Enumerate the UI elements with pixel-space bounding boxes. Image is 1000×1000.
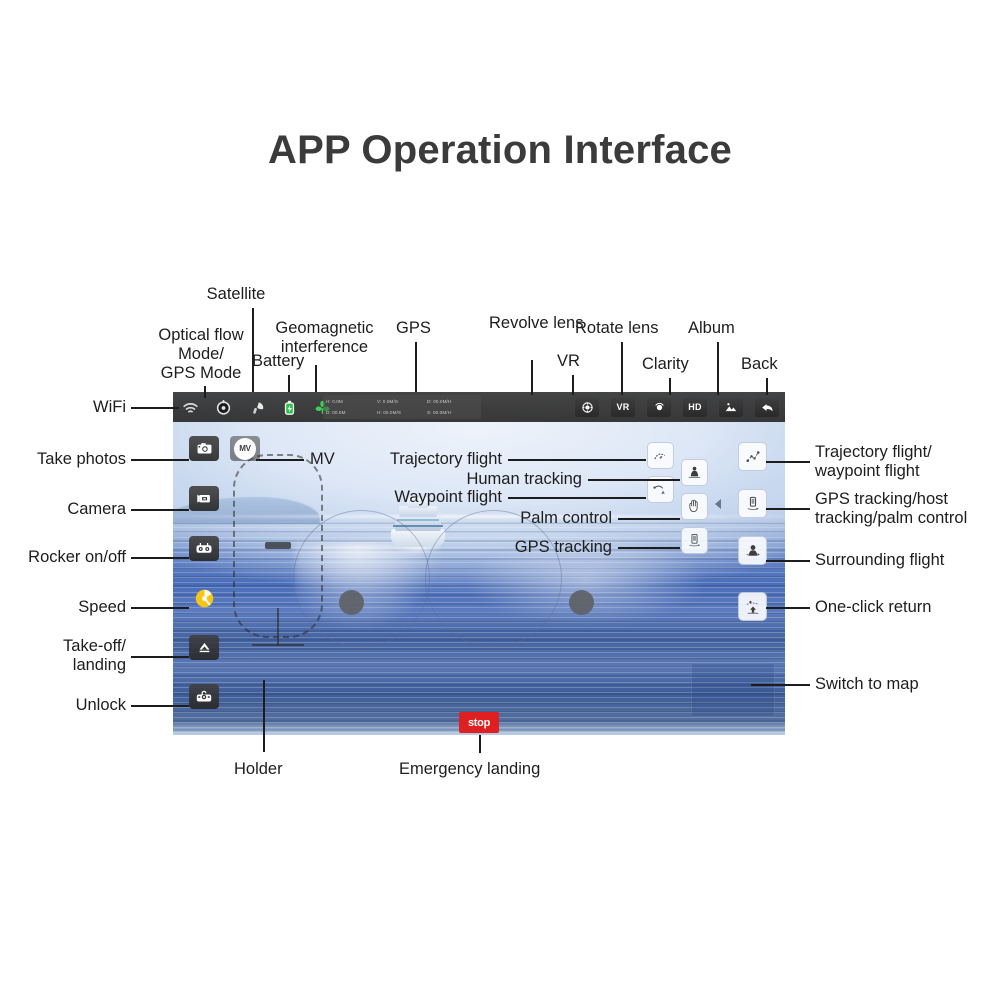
leader-human-tracking [588,479,680,481]
poster-root: APP Operation Interface [0,0,1000,1000]
leader-album [717,342,719,395]
wifi-icon[interactable] [181,398,200,417]
callout-vr: VR [557,352,580,371]
callout-trajectory-flight: Trajectory flight [370,450,502,469]
callout-palm-control: Palm control [468,509,612,528]
callout-one-click-return: One-click return [815,598,931,617]
left-joystick-knob[interactable] [339,590,364,615]
callout-rocker-on-off: Rocker on/off [8,548,126,567]
leader-right-gps-host [766,508,810,510]
callout-holder: Holder [234,760,283,779]
callout-unlock: Unlock [36,696,126,715]
human-tracking-button[interactable] [681,459,708,486]
telemetry-readout: H: 0.0M V: 0.0M/S D: 00.0M/H D: 00.0M H:… [323,395,481,419]
mv-button-label: MV [234,438,256,460]
switch-to-map-thumbnail[interactable] [691,663,775,717]
leader-emergency-landing [479,735,481,753]
album-button[interactable] [719,398,743,417]
page-title: APP Operation Interface [0,128,1000,173]
leader-back [766,378,768,395]
leader-take-photos [131,459,189,461]
callout-trajectory-waypoint-flight: Trajectory flight/ waypoint flight [815,443,932,481]
leader-holder [263,680,265,752]
callout-surrounding-flight: Surrounding flight [815,551,944,570]
callout-human-tracking: Human tracking [440,470,582,489]
palm-control-button[interactable] [681,493,708,520]
leader-takeoff [131,656,189,658]
callout-take-off-landing: Take-off/ landing [30,637,126,675]
take-off-landing-button[interactable] [189,635,219,660]
trajectory-flight-button[interactable] [647,442,674,469]
right-joystick-knob[interactable] [569,590,594,615]
callout-album: Album [688,319,735,338]
optical-flow-gps-mode-icon[interactable] [214,398,233,417]
clarity-hd-button[interactable]: HD [683,398,707,417]
callout-gps-tracking: GPS tracking [468,538,612,557]
callout-wifi: WiFi [30,398,126,417]
take-photos-button[interactable] [189,436,219,461]
gps-host-palm-tracking-button[interactable] [738,489,767,518]
trajectory-waypoint-flight-button[interactable] [738,442,767,471]
leader-rocker [131,557,189,559]
callout-rotate-lens: Rotate lens [575,319,658,338]
callout-take-photos: Take photos [20,450,126,469]
callout-satellite: Satellite [180,285,292,304]
telemetry-value: D: 00.0M [326,410,379,415]
leader-revolve-lens [531,360,533,395]
leader-trajectory-flight [508,459,646,461]
leader-speed [131,607,189,609]
leader-vr [572,375,574,395]
gps-tracking-button[interactable] [681,527,708,554]
emergency-landing-stop-button[interactable]: stop [459,712,499,733]
leader-battery [288,375,290,392]
callout-gps-host-palm-tracking: GPS tracking/host tracking/palm control [815,490,967,528]
callout-revolve-lens: Revolve lens [489,314,575,333]
vr-button[interactable]: VR [611,398,635,417]
leader-surrounding-flight [766,560,810,562]
callout-speed: Speed [36,598,126,617]
leader-unlock [131,705,189,707]
leader-gps [415,342,417,392]
callout-clarity: Clarity [642,355,689,374]
telemetry-value: S: 00.0M/H [427,410,480,415]
battery-icon[interactable] [280,398,299,417]
left-joystick[interactable] [293,510,430,647]
leader-geomagnetic [315,365,317,392]
leader-clarity [669,378,671,395]
rotate-lens-button[interactable] [647,398,671,417]
callout-waypoint-flight: Waypoint flight [370,488,502,507]
telemetry-value: V: 0.0M/S [377,399,430,404]
leader-gps-tracking [618,547,680,549]
leader-right-trajectory [766,461,810,463]
leader-wifi [131,407,179,409]
camera-button[interactable] [189,486,219,511]
telemetry-value: H: 0.0M [326,399,379,404]
rocker-on-off-button[interactable] [189,536,219,561]
cluster-expand-arrow-icon[interactable] [715,499,721,509]
callout-battery: Battery [252,352,304,371]
leader-one-click-return [766,607,810,609]
leader-camera [131,509,189,511]
telemetry-value: H: 00.0M/S [377,410,430,415]
app-screen: H: 0.0M V: 0.0M/S D: 00.0M/H D: 00.0M H:… [173,392,785,735]
satellite-icon[interactable] [247,398,266,417]
callout-emergency-landing: Emergency landing [399,760,540,779]
one-click-return-button[interactable] [738,592,767,621]
status-bar: H: 0.0M V: 0.0M/S D: 00.0M/H D: 00.0M H:… [173,392,785,422]
leader-optical-flow [204,386,206,398]
telemetry-value: D: 00.0M/H [427,399,480,404]
leader-mv [256,459,304,461]
revolve-lens-button[interactable] [575,398,599,417]
mv-button[interactable]: MV [230,436,260,461]
callout-mv: MV [310,450,335,469]
leader-switch-to-map [751,684,810,686]
callout-switch-to-map: Switch to map [815,675,919,694]
surrounding-flight-button[interactable] [738,536,767,565]
callout-gps: GPS [396,319,431,338]
callout-back: Back [741,355,778,374]
back-button[interactable] [755,398,779,417]
leader-waypoint-flight [508,497,646,499]
leader-rotate-lens [621,342,623,395]
right-joystick[interactable] [425,510,562,647]
unlock-button[interactable] [189,684,219,709]
callout-optical-flow-mode: Optical flow Mode/ GPS Mode [145,326,257,383]
leader-palm-control [618,518,680,520]
callout-camera: Camera [26,500,126,519]
speed-button[interactable] [189,586,219,611]
